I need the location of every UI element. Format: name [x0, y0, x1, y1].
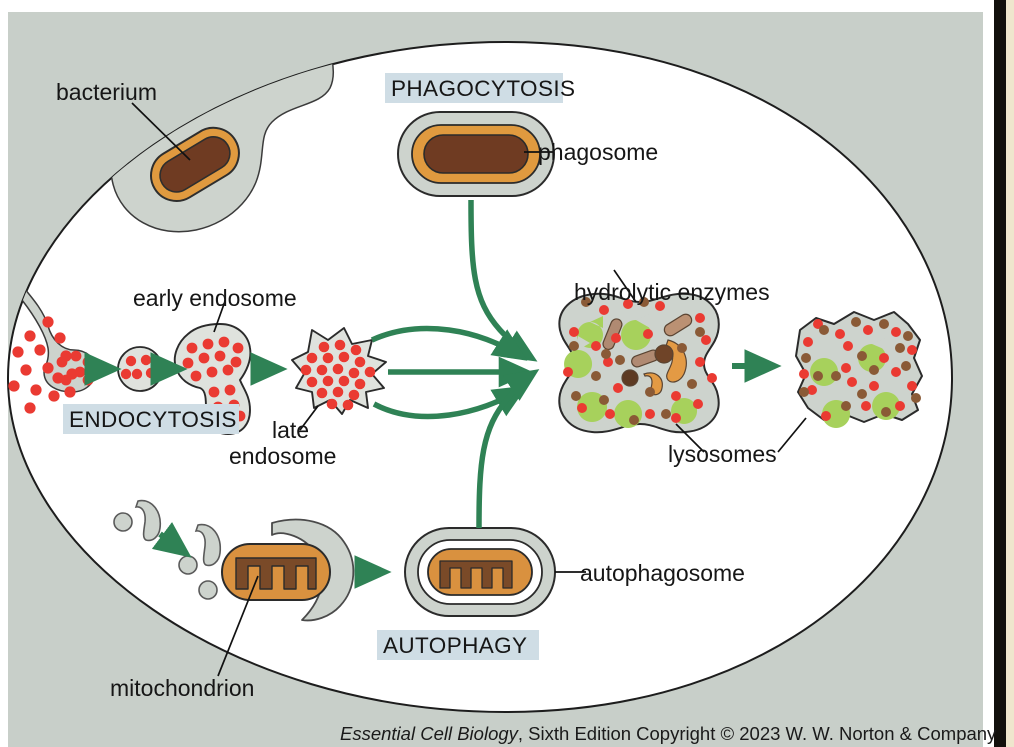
label-hydrolytic-enzymes: hydrolytic enzymes [574, 279, 770, 305]
phagosome [398, 112, 554, 196]
label-endocytosis: ENDOCYTOSIS [69, 407, 237, 432]
lysosome-fused [559, 294, 718, 433]
caption-rest: , Sixth Edition Copyright © 2023 W. W. N… [518, 723, 997, 744]
label-late-endosome-line1: late [272, 417, 309, 443]
label-autophagy: AUTOPHAGY [383, 633, 527, 658]
lysosome-mature [796, 312, 922, 428]
autophagosome [405, 528, 555, 616]
label-late-endosome-line2: endosome [229, 443, 336, 469]
endocytic-vesicle [118, 347, 162, 391]
label-autophagosome: autophagosome [580, 560, 745, 586]
caption-italic: Essential Cell Biology [340, 723, 520, 744]
label-early-endosome: early endosome [133, 285, 297, 311]
slide-canvas: bacterium PHAGOCYTOSIS phagosome early e… [0, 0, 1014, 747]
label-mitochondrion: mitochondrion [110, 675, 254, 701]
label-phagosome: phagosome [538, 139, 658, 165]
label-lysosomes: lysosomes [668, 441, 777, 467]
mitochondrion-free [222, 544, 330, 600]
label-phagocytosis: PHAGOCYTOSIS [391, 76, 575, 101]
diagram-svg-wrapper: bacterium PHAGOCYTOSIS phagosome early e… [0, 0, 1014, 747]
label-bacterium: bacterium [56, 79, 157, 105]
slide-caption: Essential Cell Biology, Sixth Edition Co… [340, 723, 997, 744]
